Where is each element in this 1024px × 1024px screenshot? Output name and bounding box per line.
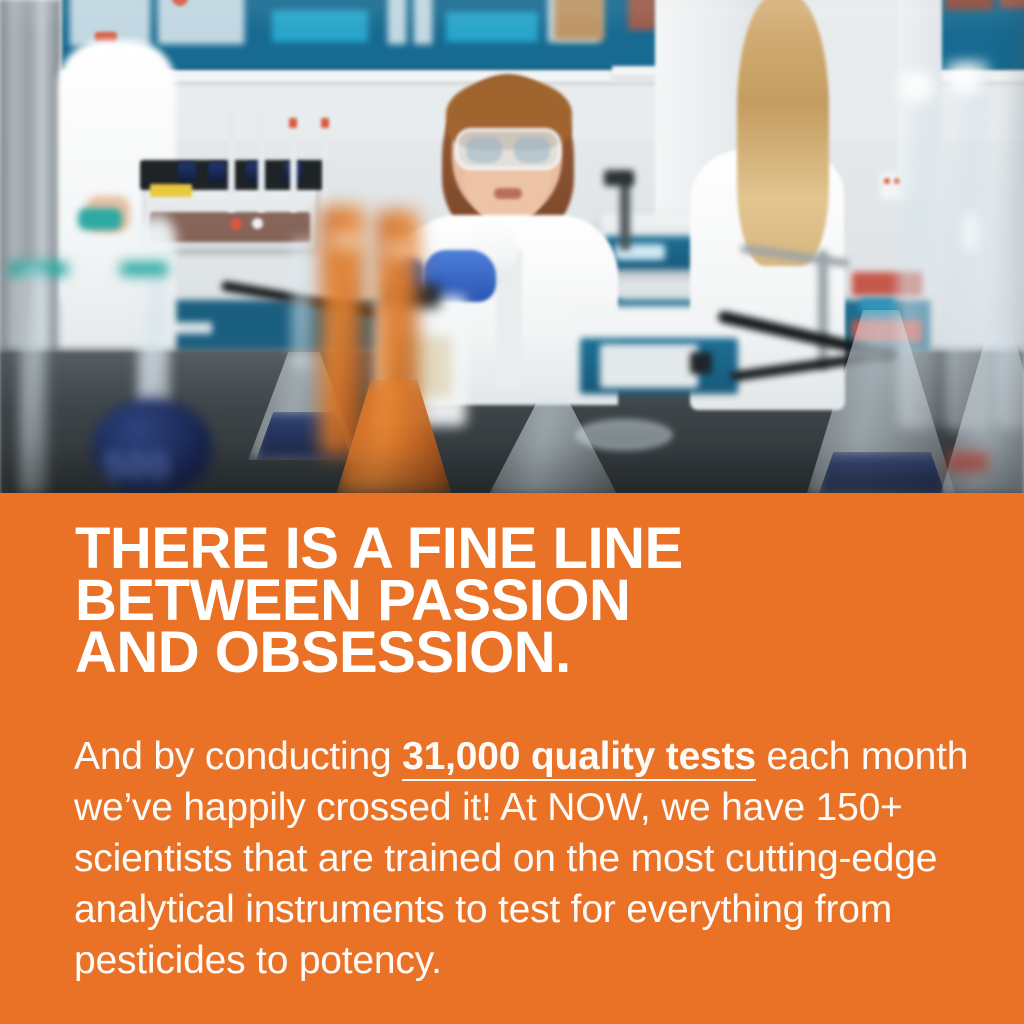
highlight-quality-tests: 31,000 quality tests xyxy=(402,735,756,781)
page-title: THERE IS A FINE LINE BETWEEN PASSION AND… xyxy=(75,523,975,679)
hose-tube xyxy=(818,250,828,370)
vial-blue xyxy=(178,162,196,182)
pipette-tip xyxy=(321,118,329,128)
cardboard-box xyxy=(554,0,604,40)
body-copy: And by conducting 31,000 quality tests e… xyxy=(74,731,974,986)
cabinet-pane xyxy=(158,0,244,44)
pipette-bulb xyxy=(136,220,176,264)
cabinet-item-right xyxy=(628,0,658,30)
pipette-tip xyxy=(289,118,297,128)
pipette xyxy=(258,112,265,212)
flask-label-red xyxy=(948,452,988,472)
indicator-light xyxy=(252,218,263,229)
cabinet-item-right xyxy=(1000,0,1024,8)
teal-item xyxy=(78,208,122,230)
amber-highlight xyxy=(330,232,364,248)
safety-goggles xyxy=(455,128,561,170)
goggle-lens-right xyxy=(514,137,550,163)
orange-text-panel: THERE IS A FINE LINE BETWEEN PASSION AND… xyxy=(0,493,1024,1024)
flask-liquid-blue xyxy=(818,452,946,493)
goggle-lens-left xyxy=(466,137,502,163)
scientist-right-hair xyxy=(737,0,829,266)
pipette xyxy=(228,112,235,212)
indicator-light xyxy=(230,218,242,230)
clamp xyxy=(604,170,634,186)
yellow-label xyxy=(150,184,192,197)
column-cap xyxy=(900,72,934,102)
lab-photo: 500 xyxy=(0,0,1024,493)
marketing-card: 500 THERE IS A FINE LINE BETW xyxy=(0,0,1024,1024)
column-cap xyxy=(948,64,982,94)
scientist-center-mouth xyxy=(494,188,522,199)
volumetric-flask-500: 500 xyxy=(92,398,212,493)
cabinet-shelf-blue xyxy=(272,10,368,42)
amber-highlight xyxy=(384,242,414,256)
cabinet-bottle xyxy=(388,0,406,44)
outlet-led xyxy=(884,178,890,184)
support-rod xyxy=(620,176,630,250)
balance-display xyxy=(600,344,698,388)
flask-label: 500 xyxy=(104,446,170,489)
vial-blue xyxy=(208,162,226,182)
body-text-before: And by conducting xyxy=(74,735,402,778)
teal-band xyxy=(120,262,168,276)
flask-neck xyxy=(138,300,168,410)
foreground-pipette xyxy=(20,264,46,493)
flask-neck xyxy=(292,238,314,368)
cabinet-item-right xyxy=(945,0,993,10)
cabinet-bottle xyxy=(414,0,432,44)
cabinet-shelf-blue xyxy=(446,12,538,42)
column-highlight xyxy=(962,212,978,252)
balance-button xyxy=(690,352,712,374)
